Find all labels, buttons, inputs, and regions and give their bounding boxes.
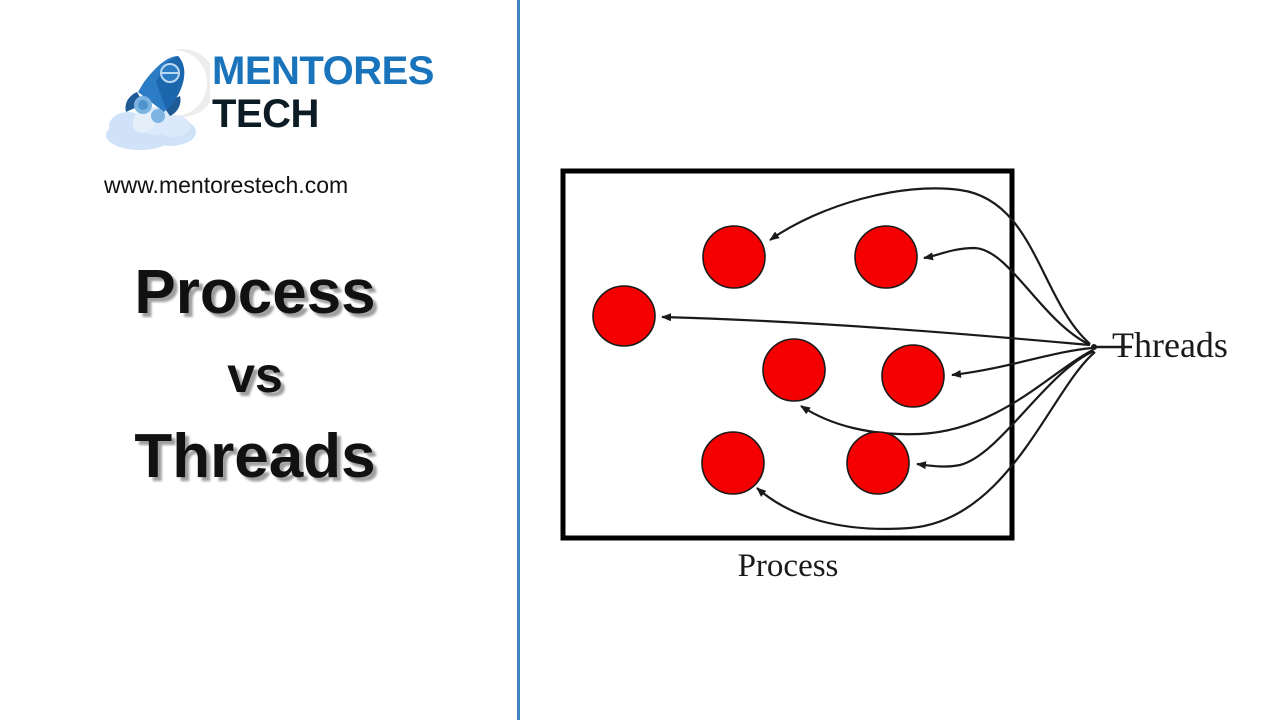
thread-node-7 [847,432,909,494]
thread-node-5 [882,345,944,407]
process-label: Process [562,548,1014,585]
thread-node-4 [763,339,825,401]
threads-label: Threads [1112,324,1228,366]
process-threads-diagram [0,0,1280,720]
thread-node-6 [702,432,764,494]
thread-arrow-2 [770,188,1090,344]
thread-arrow-5 [952,348,1092,375]
thread-arrow-3 [924,248,1090,345]
convergence-point [1091,344,1097,350]
slide-canvas: MENTORES TECH www.mentorestech.com Proce… [0,0,1280,720]
thread-nodes [593,226,944,494]
thread-node-3 [855,226,917,288]
thread-node-1 [593,286,655,346]
thread-arrow-4 [801,350,1093,434]
thread-arrow-1 [662,317,1090,345]
thread-node-2 [703,226,765,288]
